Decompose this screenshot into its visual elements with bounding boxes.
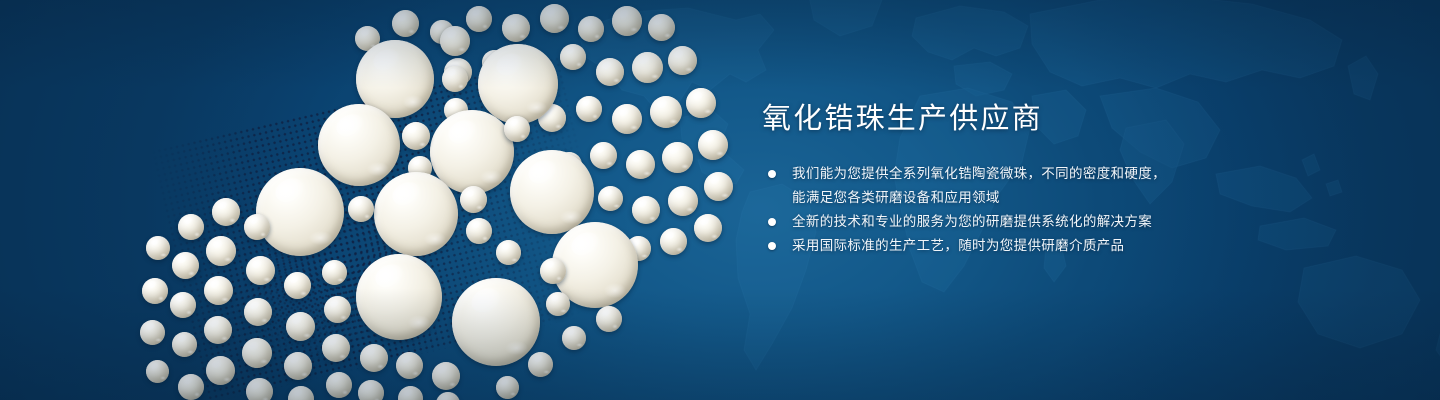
- bullet-text-line-1: 采用国际标准的生产工艺，随时为您提供研磨介质产品: [792, 238, 1124, 253]
- bullet-text-line-1: 全新的技术和专业的服务为您的研磨提供系统化的解决方案: [792, 214, 1152, 229]
- bullet-dot-icon: [768, 242, 776, 250]
- bullet-text-line-2: 能满足您各类研磨设备和应用领域: [792, 186, 1402, 210]
- bullet-dot-icon: [768, 170, 776, 178]
- list-item: 采用国际标准的生产工艺，随时为您提供研磨介质产品: [762, 234, 1402, 258]
- list-item: 我们能为您提供全系列氧化锆陶瓷微珠，不同的密度和硬度， 能满足您各类研磨设备和应…: [762, 162, 1402, 210]
- banner-text-block: 氧化锆珠生产供应商 我们能为您提供全系列氧化锆陶瓷微珠，不同的密度和硬度， 能满…: [762, 102, 1402, 258]
- bullet-dot-icon: [768, 218, 776, 226]
- bullet-text-line-1: 我们能为您提供全系列氧化锆陶瓷微珠，不同的密度和硬度，: [792, 166, 1166, 181]
- page-title: 氧化锆珠生产供应商: [762, 102, 1402, 137]
- feature-bullet-list: 我们能为您提供全系列氧化锆陶瓷微珠，不同的密度和硬度， 能满足您各类研磨设备和应…: [762, 162, 1402, 258]
- hero-banner: 氧化锆珠生产供应商 我们能为您提供全系列氧化锆陶瓷微珠，不同的密度和硬度， 能满…: [0, 0, 1440, 400]
- list-item: 全新的技术和专业的服务为您的研磨提供系统化的解决方案: [762, 210, 1402, 234]
